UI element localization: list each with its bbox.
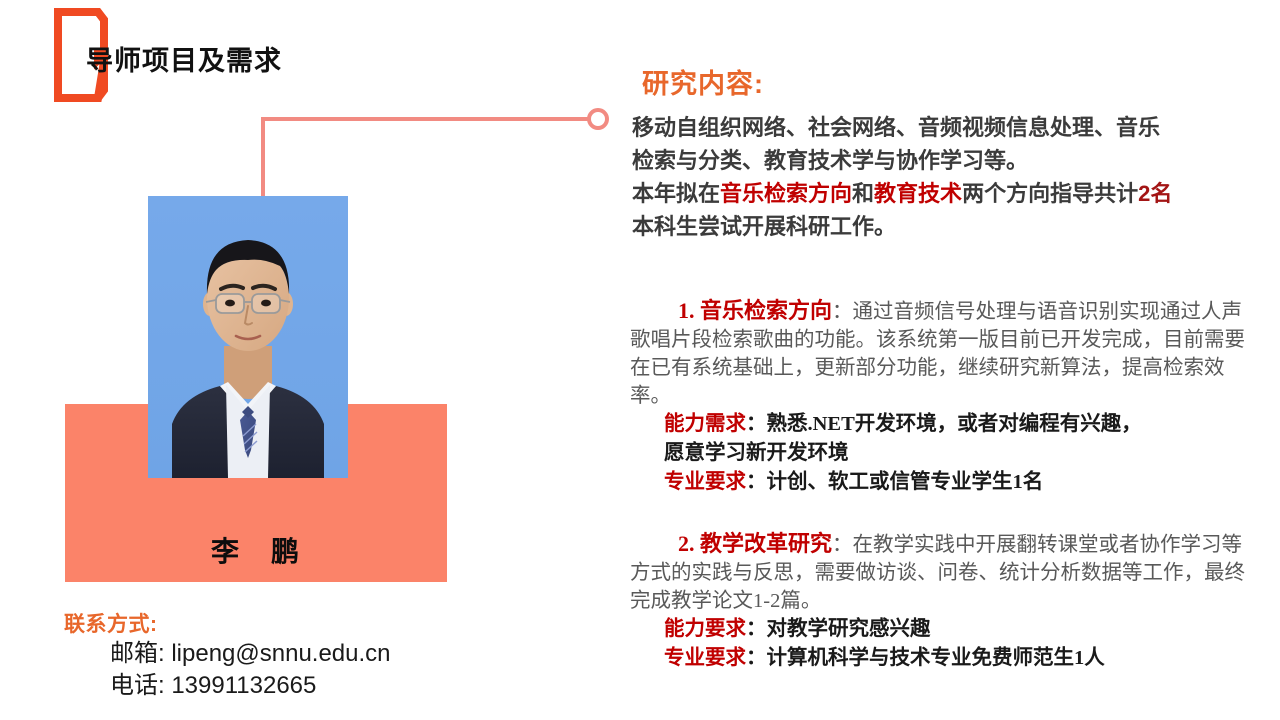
page-title: 导师项目及需求: [86, 39, 282, 78]
section-1-req-1: 能力需求：熟悉.NET开发环境，或者对编程有兴趣，: [630, 410, 1250, 439]
research-plan-line: 本年拟在音乐检索方向和教育技术两个方向指导共计2名: [632, 177, 1268, 210]
person-name: 李 鹏: [65, 530, 447, 570]
section-1-req-2-colon: ：: [746, 471, 767, 493]
section-1-req-2: 专业要求：计创、软工或信管专业学生1名: [630, 468, 1250, 497]
plan-count: 2名: [1138, 181, 1172, 206]
section-2-req-2-label: 专业要求: [664, 647, 746, 669]
section-1-colon: ：: [832, 301, 853, 323]
section-1-req-2-value: 计创、软工或信管专业学生1名: [767, 471, 1044, 493]
contact-block: 联系方式: 邮箱: lipeng@snnu.edu.cn 电话: 1399113…: [64, 612, 524, 702]
section-2-colon: ：: [832, 534, 853, 556]
section-1-paragraph: 1. 音乐检索方向：通过音频信号处理与语音识别实现通过人声歌唱片段检索歌曲的功能…: [630, 297, 1250, 410]
section-1-title: 音乐检索方向: [700, 298, 832, 323]
research-intro-line-1: 移动自组织网络、社会网络、音频视频信息处理、音乐: [632, 111, 1268, 144]
avatar: [148, 196, 348, 478]
section-1-req-1-label: 能力需求: [664, 413, 746, 435]
contact-title: 联系方式:: [64, 612, 524, 638]
plan-highlight-1: 音乐检索方向: [720, 181, 852, 206]
slide-canvas: 导师项目及需求: [0, 0, 1280, 720]
section-2-req-1-label: 能力要求: [664, 618, 746, 640]
section-1-req-1-value: 熟悉.NET开发环境，或者对编程有兴趣，: [767, 413, 1142, 435]
research-heading: 研究内容:: [642, 62, 1268, 101]
section-1-req-1-colon: ：: [746, 413, 767, 435]
connector-line: [250, 100, 620, 210]
research-intro-line-2: 检索与分类、教育技术学与协作学习等。: [632, 144, 1268, 177]
plan-suffix: 两个方向指导共计: [962, 181, 1138, 206]
research-plan-line-2: 本科生尝试开展科研工作。: [632, 210, 1268, 243]
plan-mid: 和: [852, 181, 874, 206]
plan-highlight-2: 教育技术: [874, 181, 962, 206]
section-2-paragraph: 2. 教学改革研究：在教学实践中开展翻转课堂或者协作学习等方式的实践与反思，需要…: [630, 530, 1250, 615]
section-2-req-2: 专业要求：计算机科学与技术专业免费师范生1人: [630, 644, 1250, 673]
section-2-title: 教学改革研究: [700, 531, 832, 556]
section-2-req-2-value: 计算机科学与技术专业免费师范生1人: [767, 647, 1105, 669]
plan-prefix: 本年拟在: [632, 181, 720, 206]
contact-phone[interactable]: 电话: 13991132665: [64, 670, 524, 702]
section-2-req-1-colon: ：: [746, 618, 767, 640]
contact-email[interactable]: 邮箱: lipeng@snnu.edu.cn: [64, 638, 524, 670]
research-column: 研究内容: 移动自组织网络、社会网络、音频视频信息处理、音乐 检索与分类、教育技…: [620, 62, 1268, 243]
section-2-req-2-colon: ：: [746, 647, 767, 669]
section-teaching-reform: 2. 教学改革研究：在教学实践中开展翻转课堂或者协作学习等方式的实践与反思，需要…: [630, 530, 1250, 673]
research-intro: 移动自组织网络、社会网络、音频视频信息处理、音乐 检索与分类、教育技术学与协作学…: [632, 111, 1268, 243]
section-1-number: 1.: [678, 298, 700, 323]
section-1-req-1-cont: 愿意学习新开发环境: [630, 439, 1250, 468]
section-2-number: 2.: [678, 531, 700, 556]
section-1-req-2-label: 专业要求: [664, 471, 746, 493]
section-2-req-1: 能力要求：对教学研究感兴趣: [630, 615, 1250, 644]
section-2-req-1-value: 对教学研究感兴趣: [767, 618, 931, 640]
section-music-retrieval: 1. 音乐检索方向：通过音频信号处理与语音识别实现通过人声歌唱片段检索歌曲的功能…: [630, 297, 1250, 497]
